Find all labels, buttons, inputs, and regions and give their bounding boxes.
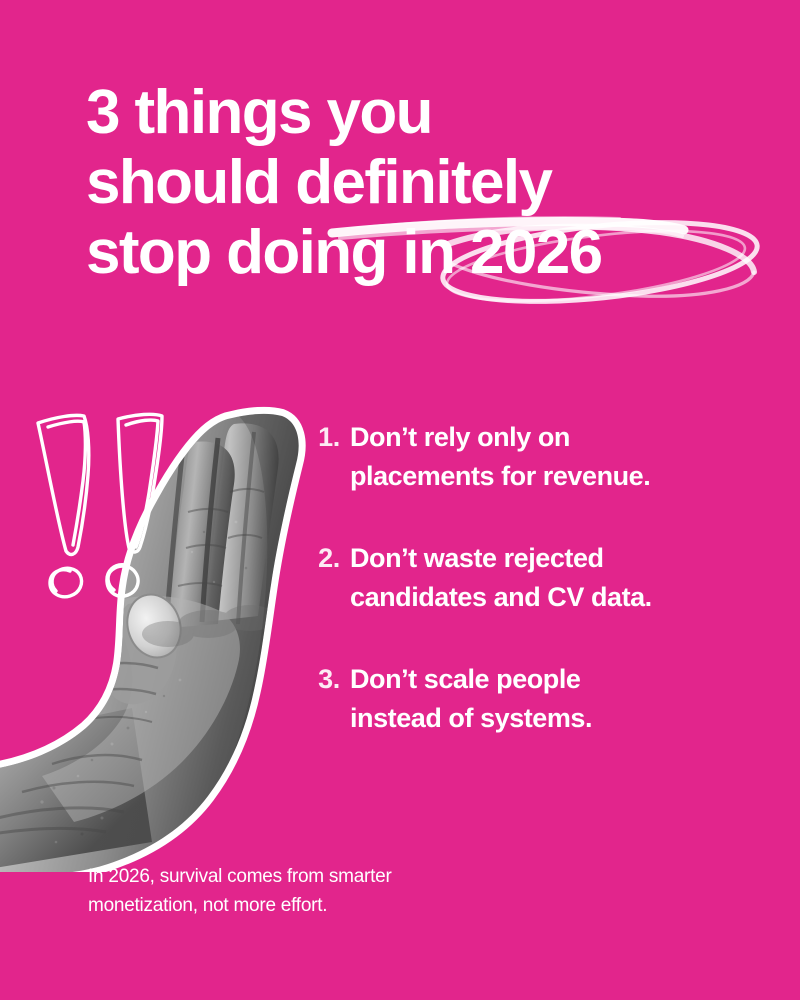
list-item-number: 1. bbox=[306, 418, 340, 457]
double-exclamation-doodle-icon bbox=[22, 405, 192, 605]
list-item-text: Don’t scale people instead of systems. bbox=[350, 660, 746, 737]
page-title: 3 things you should definitely stop doin… bbox=[86, 78, 776, 288]
list-item: 3. Don’t scale people instead of systems… bbox=[306, 660, 746, 737]
list-item-number: 3. bbox=[306, 660, 340, 699]
list-item-text: Don’t rely only on placements for revenu… bbox=[350, 418, 746, 495]
list-item: 2. Don’t waste rejected candidates and C… bbox=[306, 539, 746, 616]
poster-canvas: 3 things you should definitely stop doin… bbox=[0, 0, 800, 1000]
list-item-text: Don’t waste rejected candidates and CV d… bbox=[350, 539, 746, 616]
list-item: 1. Don’t rely only on placements for rev… bbox=[306, 418, 746, 495]
list-item-number: 2. bbox=[306, 539, 340, 578]
footer-caption: In 2026, survival comes from smarter mon… bbox=[88, 862, 608, 921]
tips-list: 1. Don’t rely only on placements for rev… bbox=[306, 418, 746, 738]
